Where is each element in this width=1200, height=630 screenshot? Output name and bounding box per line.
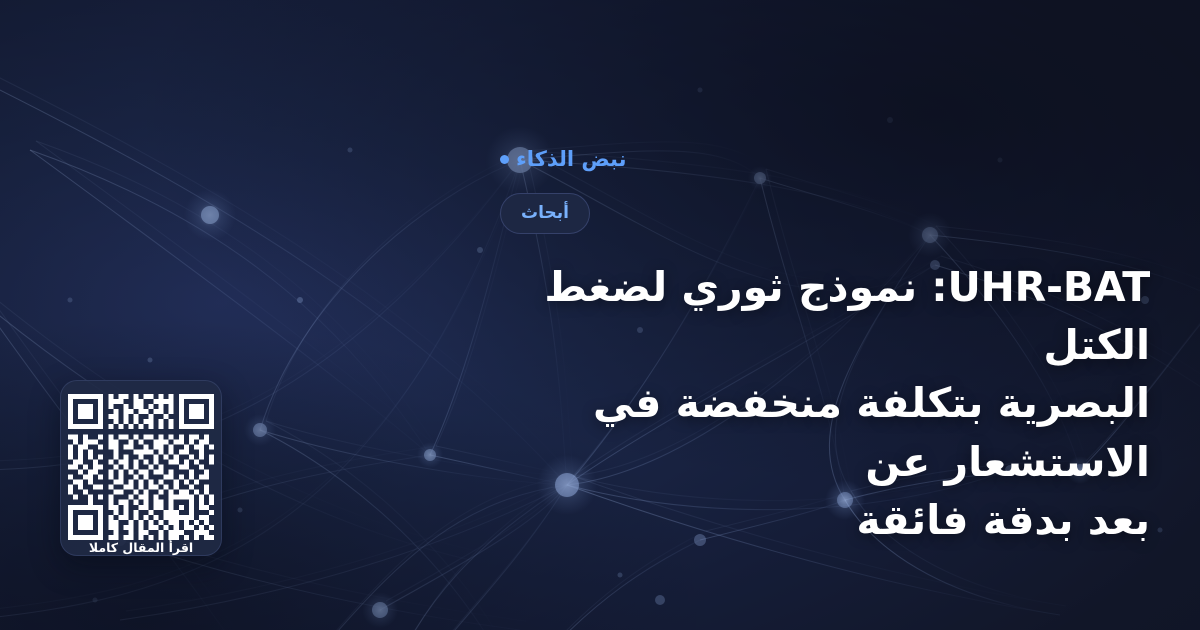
title-line-1: UHR-BAT: نموذج ثوري لضغط الكتل — [544, 263, 1150, 369]
brand-dot-icon — [500, 155, 509, 164]
title-line-2: البصرية بتكلفة منخفضة في الاستشعار عن — [593, 379, 1150, 485]
title-line-3: بعد بدقة فائقة — [856, 496, 1150, 544]
content-column: نبض الذكاء أبحاث UHR-BAT: نموذج ثوري لضغ… — [500, 0, 1200, 630]
qr-card[interactable]: اقرأ المقال كاملا — [60, 380, 222, 556]
qr-caption: اقرأ المقال كاملا — [89, 542, 193, 555]
badge-row: أبحاث — [500, 193, 1150, 234]
qr-code-icon — [68, 394, 214, 540]
brand-name: نبض الذكاء — [516, 149, 626, 170]
category-badge[interactable]: أبحاث — [500, 193, 590, 234]
social-share-card: نبض الذكاء أبحاث UHR-BAT: نموذج ثوري لضغ… — [0, 0, 1200, 630]
page-title: UHR-BAT: نموذج ثوري لضغط الكتل البصرية ب… — [500, 258, 1150, 549]
brand: نبض الذكاء — [500, 146, 1150, 172]
